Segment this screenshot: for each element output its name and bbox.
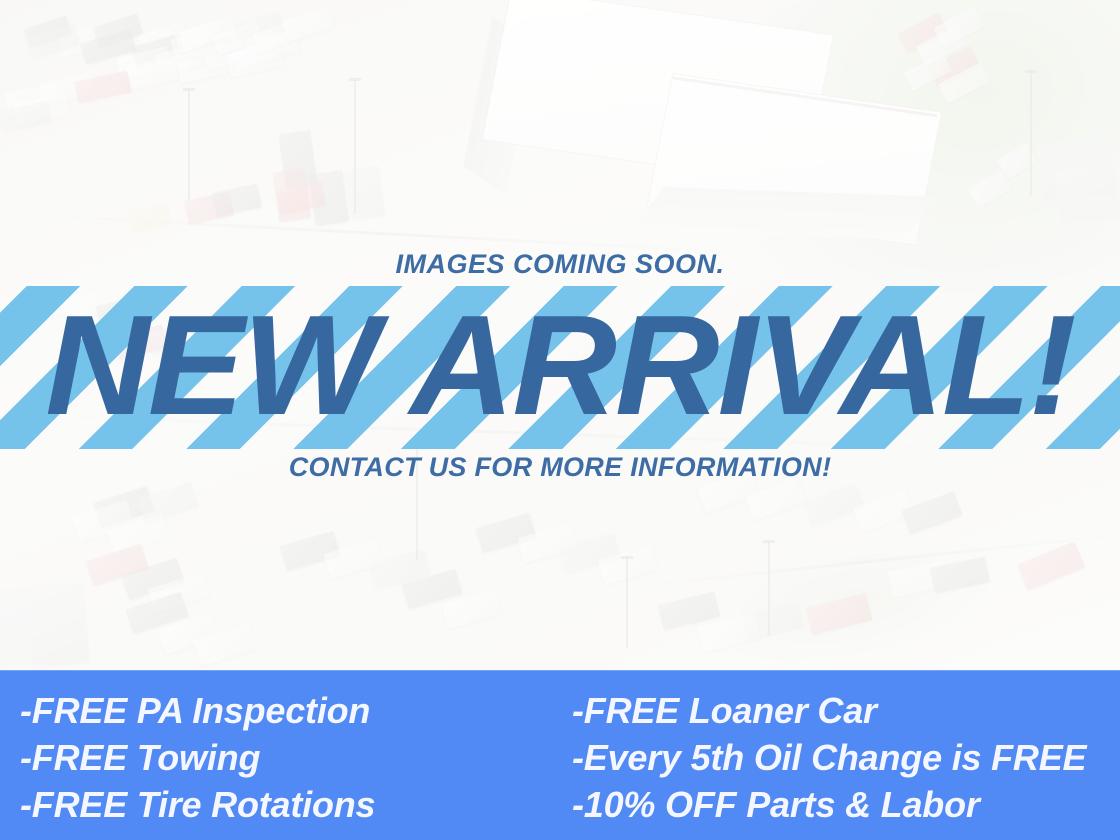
dealership-aerial-photo — [0, 0, 1120, 672]
offer-column-right: -FREE Loaner Car -Every 5th Oil Change i… — [560, 670, 1120, 840]
outbuilding — [1055, 165, 1120, 223]
offer-item: -FREE Loaner Car — [572, 687, 1120, 734]
offer-item: -FREE Tire Rotations — [20, 781, 560, 828]
offer-item: -Every 5th Oil Change is FREE — [572, 734, 1120, 781]
offer-item: -10% OFF Parts & Labor — [572, 781, 1120, 828]
light-pole — [416, 440, 418, 560]
service-offers-banner: -FREE PA Inspection -FREE Towing -FREE T… — [0, 670, 1120, 840]
outbuilding — [28, 598, 90, 668]
service-building — [448, 0, 961, 240]
light-pole — [1030, 70, 1032, 196]
light-pole — [626, 556, 628, 648]
light-pole — [768, 540, 770, 636]
parked-vehicle — [345, 166, 386, 220]
offer-column-left: -FREE PA Inspection -FREE Towing -FREE T… — [0, 670, 560, 840]
new-arrival-placard: IMAGES COMING SOON. NEW ARRIVAL! CONTACT… — [0, 0, 1120, 840]
light-pole — [188, 88, 190, 200]
offer-columns: -FREE PA Inspection -FREE Towing -FREE T… — [0, 670, 1120, 840]
light-pole — [354, 78, 356, 214]
offer-item: -FREE PA Inspection — [20, 687, 560, 734]
offer-item: -FREE Towing — [20, 734, 560, 781]
